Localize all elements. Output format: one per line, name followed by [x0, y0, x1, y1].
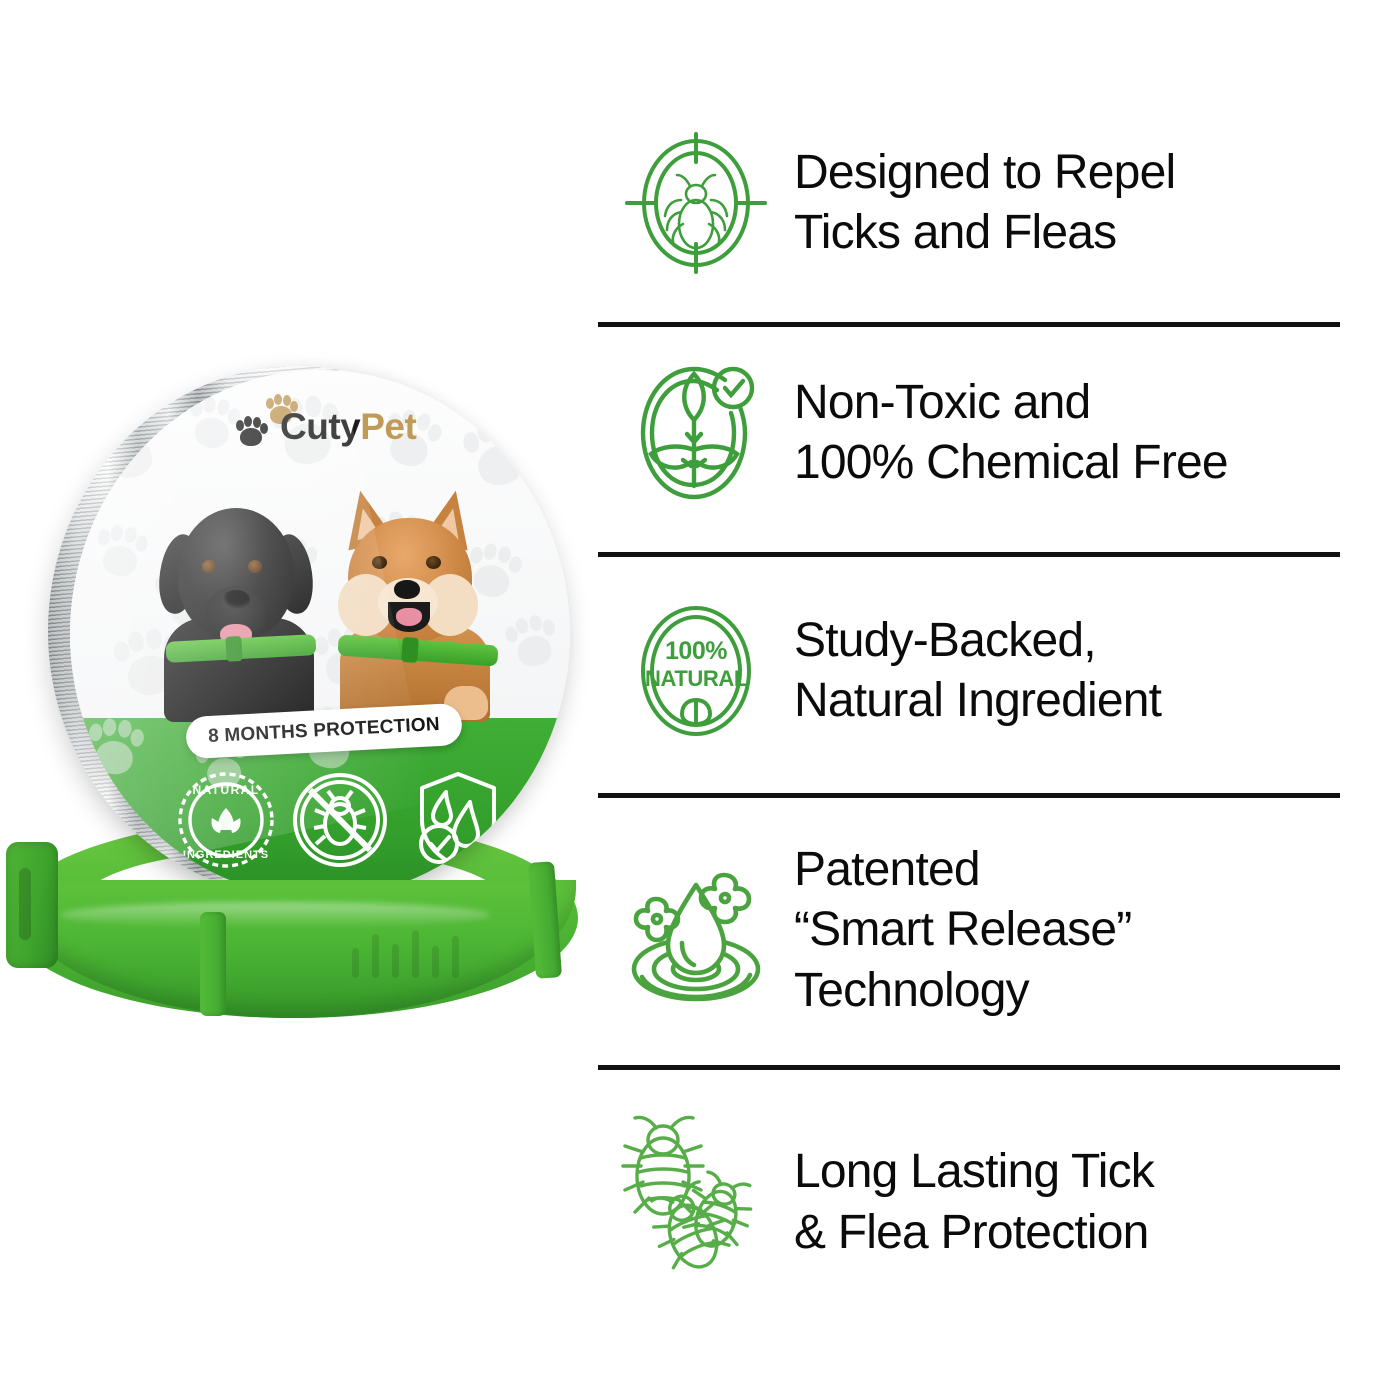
divider-1 [598, 322, 1340, 327]
dog-black-labrador [144, 490, 326, 722]
divider-3 [598, 793, 1340, 798]
feature-row-repel: Designed to Repel Ticks and Fleas [598, 128, 1340, 278]
badge-percent-text: 100% [665, 637, 727, 665]
feature-line: Study-Backed, [794, 611, 1340, 671]
tin-label-face: CutyPet [70, 370, 570, 898]
lab-nose [222, 590, 250, 610]
natural-ingredients-seal: NATURAL INGREDIENTS [174, 768, 278, 877]
feature-text-repel: Designed to Repel Ticks and Fleas [794, 143, 1340, 264]
months-protection-label: 8 MONTHS PROTECTION [208, 714, 441, 748]
tin-seal-badges: NATURAL INGREDIENTS [174, 768, 500, 872]
feature-line: Patented [794, 840, 1340, 900]
hundred-percent-natural-icon: 100% NATURAL [598, 596, 794, 746]
brand-logo: CutyPet [228, 394, 458, 456]
divider-4 [598, 1065, 1340, 1070]
shiba-collar-buckle [401, 637, 419, 663]
collar-ridge [432, 946, 439, 978]
divider-2 [598, 552, 1340, 557]
collar-keeper-left [200, 912, 226, 1016]
feature-line: Natural Ingredient [794, 671, 1340, 731]
fleas-icon [598, 1110, 794, 1295]
lab-eye-left [202, 560, 216, 573]
collar-grip-ridges [352, 930, 472, 986]
feature-line: Non-Toxic and [794, 373, 1340, 433]
svg-text:INGREDIENTS: INGREDIENTS [183, 849, 269, 861]
feature-row-natural: 100% NATURAL Study-Backed, Natural Ingre… [598, 596, 1340, 746]
leaf-check-icon [598, 358, 794, 508]
feature-line: 100% Chemical Free [794, 433, 1340, 493]
brand-name-second: Pet [360, 406, 416, 447]
badge-natural-text: NATURAL [645, 666, 747, 691]
feature-line: Ticks and Fleas [794, 203, 1340, 263]
no-bugs-seal [288, 768, 392, 877]
feature-text-natural: Study-Backed, Natural Ingredient [794, 611, 1340, 732]
feature-line: Technology [794, 961, 1340, 1021]
svg-text:NATURAL: NATURAL [193, 783, 260, 797]
lab-collar-buckle [225, 636, 242, 662]
feature-line: Long Lasting Tick [794, 1142, 1340, 1202]
brand-name: CutyPet [280, 406, 416, 448]
waterproof-shield-seal [402, 768, 506, 877]
feature-list: Designed to Repel Ticks and Fleas [598, 0, 1375, 1375]
shiba-tongue [396, 608, 422, 626]
collar-highlight [60, 902, 490, 928]
collar-ridge [352, 948, 359, 978]
collar-buckle [6, 842, 58, 968]
shiba-nose [394, 580, 420, 599]
collar-ridge [372, 934, 379, 978]
feature-line: “Smart Release” [794, 900, 1340, 960]
tick-target-icon [598, 128, 794, 278]
product-infographic: CutyPet [0, 0, 1375, 1375]
lab-eye-right [248, 560, 262, 573]
collar-buckle-slot [19, 868, 31, 940]
shiba-eye-right [426, 556, 441, 569]
feature-line: Designed to Repel [794, 143, 1340, 203]
dog-shiba-inu [316, 482, 506, 722]
feature-row-long-lasting: Long Lasting Tick & Flea Protection [598, 1110, 1340, 1295]
collar-ridge [392, 944, 399, 978]
droplet-flowers-icon [598, 851, 794, 1011]
product-tin: CutyPet [48, 366, 568, 911]
shiba-eye-left [372, 556, 387, 569]
collar-ridge [452, 936, 459, 978]
feature-row-smart-release: Patented “Smart Release” Technology [598, 840, 1340, 1021]
feature-text-long-lasting: Long Lasting Tick & Flea Protection [794, 1142, 1340, 1263]
collar-ridge [412, 930, 419, 978]
feature-text-non-toxic: Non-Toxic and 100% Chemical Free [794, 373, 1340, 494]
feature-line: & Flea Protection [794, 1203, 1340, 1263]
brand-name-first: Cuty [280, 406, 360, 447]
dogs-photo [138, 474, 506, 722]
paw-logo-black [236, 416, 266, 446]
feature-row-non-toxic: Non-Toxic and 100% Chemical Free [598, 358, 1340, 508]
product-image: CutyPet [0, 0, 600, 1375]
feature-text-smart-release: Patented “Smart Release” Technology [794, 840, 1340, 1021]
